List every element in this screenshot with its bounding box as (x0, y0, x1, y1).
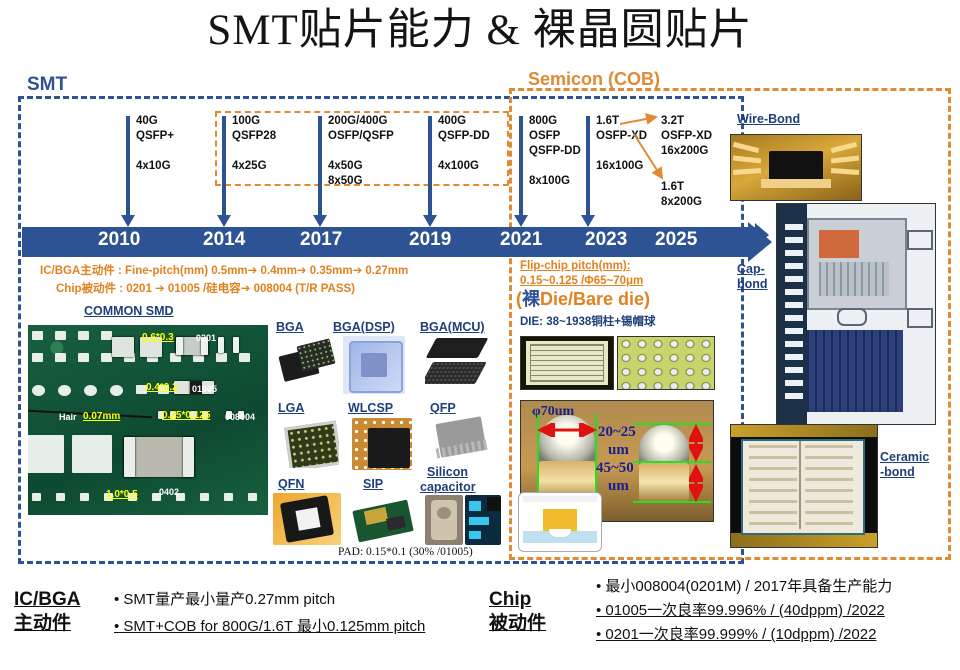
bare-die-english: Die/Bare die (540, 289, 644, 309)
ceramic-bond-label-line-1: Ceramic (880, 450, 929, 465)
timeline-year-2010: 2010 (98, 229, 140, 251)
smt-note-line-2: Chip被动件 : 0201 ➔ 01005 /硅电容➔ 008004 (T/R… (56, 280, 355, 296)
thumb-bga-dsp (343, 336, 405, 394)
thumb-lga (283, 418, 339, 468)
summary-left-bullet-2-text: • SMT+COB for 800G/1.6T 最小0.125mm pitch (114, 618, 425, 635)
flip-chip-pitch-line-2: 0.15~0.125 /Φ65~70μm (520, 274, 643, 289)
thumb-silicon-capacitor-b (465, 495, 501, 545)
summary-right-bullet-2: • 01005一次良率99.996% / (40dppm) /2022 (596, 600, 885, 622)
timeline-year-2023: 2023 (585, 229, 627, 251)
bare-die-label: (裸Die/Bare die) (516, 289, 650, 309)
summary-right-bullet-2-text: • 01005一次良率99.996% / (40dppm) /2022 (596, 602, 885, 619)
die-bump-note: DIE: 38~1938铜柱+锡帽球 (520, 313, 656, 329)
summary-right-key: Chip 被动件 (489, 588, 546, 636)
orange-connector-arrows (618, 112, 688, 202)
wire-bond-photo (730, 134, 862, 201)
bare-die-chinese: 裸 (522, 289, 540, 309)
gallery-label-capacitor: capacitor (420, 480, 476, 494)
gallery-label-lga: LGA (278, 401, 304, 415)
common-smd-label: COMMON SMD (84, 304, 174, 318)
timeline-arrow-2021 (519, 116, 523, 216)
spec-2010: 40G QSFP+ 4x10G (136, 114, 174, 174)
smt-section-label: SMT (27, 74, 67, 96)
cap-bond-photo (776, 203, 936, 425)
cap-bond-label-line-1: Cap- (737, 262, 768, 277)
gallery-label-bga-dsp: BGA(DSP) (333, 320, 395, 334)
ceramic-bond-label-line-2: -bond (880, 465, 929, 480)
bare-die-paren-close: ) (644, 289, 650, 309)
timeline-year-2019: 2019 (409, 229, 451, 251)
timeline-year-2025: 2025 (655, 229, 697, 251)
gallery-label-bga-mcu: BGA(MCU) (420, 320, 485, 334)
thumb-bga-mcu (425, 334, 491, 392)
thumb-bga (277, 336, 337, 391)
pad-note: PAD: 0.15*0.1 (30% /01005) (338, 546, 473, 558)
smd-label-008004: 008004 (225, 412, 255, 422)
cob-section-label: Semicon (COB) (528, 69, 660, 90)
wire-bond-label: Wire-Bond (737, 112, 800, 127)
cap-bond-pointer-arrow (723, 223, 769, 247)
gallery-label-silicon: Silicon (427, 465, 468, 479)
summary-right-bullet-3-text: • 0201一次良率99.999% / (10dppm) /2022 (596, 626, 876, 643)
timeline-arrow-2023 (586, 116, 590, 216)
spec-2017: 200G/400G OSFP/QSFP 4x50G 8x50G (328, 114, 394, 189)
gallery-label-qfn: QFN (278, 477, 304, 491)
summary-left-bullet-2: • SMT+COB for 800G/1.6T 最小0.125mm pitch (114, 616, 425, 638)
ceramic-bond-photo (730, 424, 878, 548)
timeline-arrow-2017 (318, 116, 322, 216)
timeline-arrow-2014 (222, 116, 226, 216)
spec-2014: 100G QSFP28 4x25G (232, 114, 276, 174)
gallery-label-wlcsp: WLCSP (348, 401, 393, 415)
timeline-year-2017: 2017 (300, 229, 342, 251)
thumb-qfn (273, 493, 341, 545)
timeline-arrow-2010 (126, 116, 130, 216)
summary-right-key-line-2: 被动件 (489, 612, 546, 636)
thumb-wlcsp (352, 418, 412, 470)
gallery-label-sip: SIP (363, 477, 383, 491)
cap-bond-label: Cap- bond (737, 262, 768, 292)
smd-label-0402: 0402 (159, 487, 179, 497)
gallery-label-bga: BGA (276, 320, 304, 334)
smt-note-line-1: IC/BGA主动件 : Fine-pitch(mm) 0.5mm➔ 0.4mm➔… (40, 262, 408, 278)
summary-right-bullet-1: • 最小008004(0201M) / 2017年具备生产能力 (596, 576, 892, 598)
summary-left-key-line-2: 主动件 (14, 612, 81, 636)
smd-label-04x02: 0.4*0.2 (146, 382, 178, 393)
bump-diameter-label: φ70um (532, 404, 574, 420)
summary-right-key-line-1: Chip (489, 588, 546, 612)
bump-pillar-height-label: 45~50 (596, 460, 634, 477)
thumb-sip (351, 495, 415, 545)
die-layout-photo (520, 336, 614, 390)
smd-label-10x05: 1.0*0.5 (106, 489, 138, 500)
smd-label-007mm: 0.07mm (83, 411, 120, 422)
summary-left-bullet-1: • SMT量产最小量产0.27mm pitch (114, 589, 335, 611)
bump-array-photo (617, 336, 715, 390)
gallery-label-qfp: QFP (430, 401, 456, 415)
cap-bond-label-line-2: bond (737, 277, 768, 292)
spec-2021: 800G OSFP QSFP-DD 8x100G (529, 114, 581, 189)
smd-label-hair: Hair (59, 412, 77, 422)
timeline-year-2021: 2021 (500, 229, 542, 251)
spec-2019: 400G QSFP-DD 4x100G (438, 114, 490, 174)
bump-pillar-unit-label: um (608, 478, 629, 495)
summary-left-key: IC/BGA 主动件 (14, 588, 81, 636)
flip-chip-pitch-line-1: Flip-chip pitch(mm): (520, 259, 643, 274)
summary-left-key-line-1: IC/BGA (14, 588, 81, 612)
ceramic-bond-label: Ceramic -bond (880, 450, 929, 480)
thumb-silicon-capacitor-a (425, 495, 463, 545)
timeline-year-2014: 2014 (203, 229, 245, 251)
smd-label-025x0125: 0.25*0.125 (162, 410, 210, 421)
bump-cap-unit-label: um (608, 442, 629, 459)
bump-cap-height-label: 20~25 (598, 424, 636, 441)
summary-right-bullet-3: • 0201一次良率99.999% / (10dppm) /2022 (596, 624, 876, 646)
smd-label-0201: 0201 (196, 333, 216, 343)
timeline-arrow-2019 (428, 116, 432, 216)
thumb-qfp (430, 414, 492, 464)
smd-label-01005: 01005 (192, 384, 217, 394)
bump-schematic-diagram (518, 492, 602, 552)
page-title: SMT贴片能力 & 裸晶圆贴片 (0, 4, 960, 58)
smd-label-06x03: 0.6*0.3 (142, 332, 174, 343)
flip-chip-pitch-note: Flip-chip pitch(mm): 0.15~0.125 /Φ65~70μ… (520, 259, 643, 289)
